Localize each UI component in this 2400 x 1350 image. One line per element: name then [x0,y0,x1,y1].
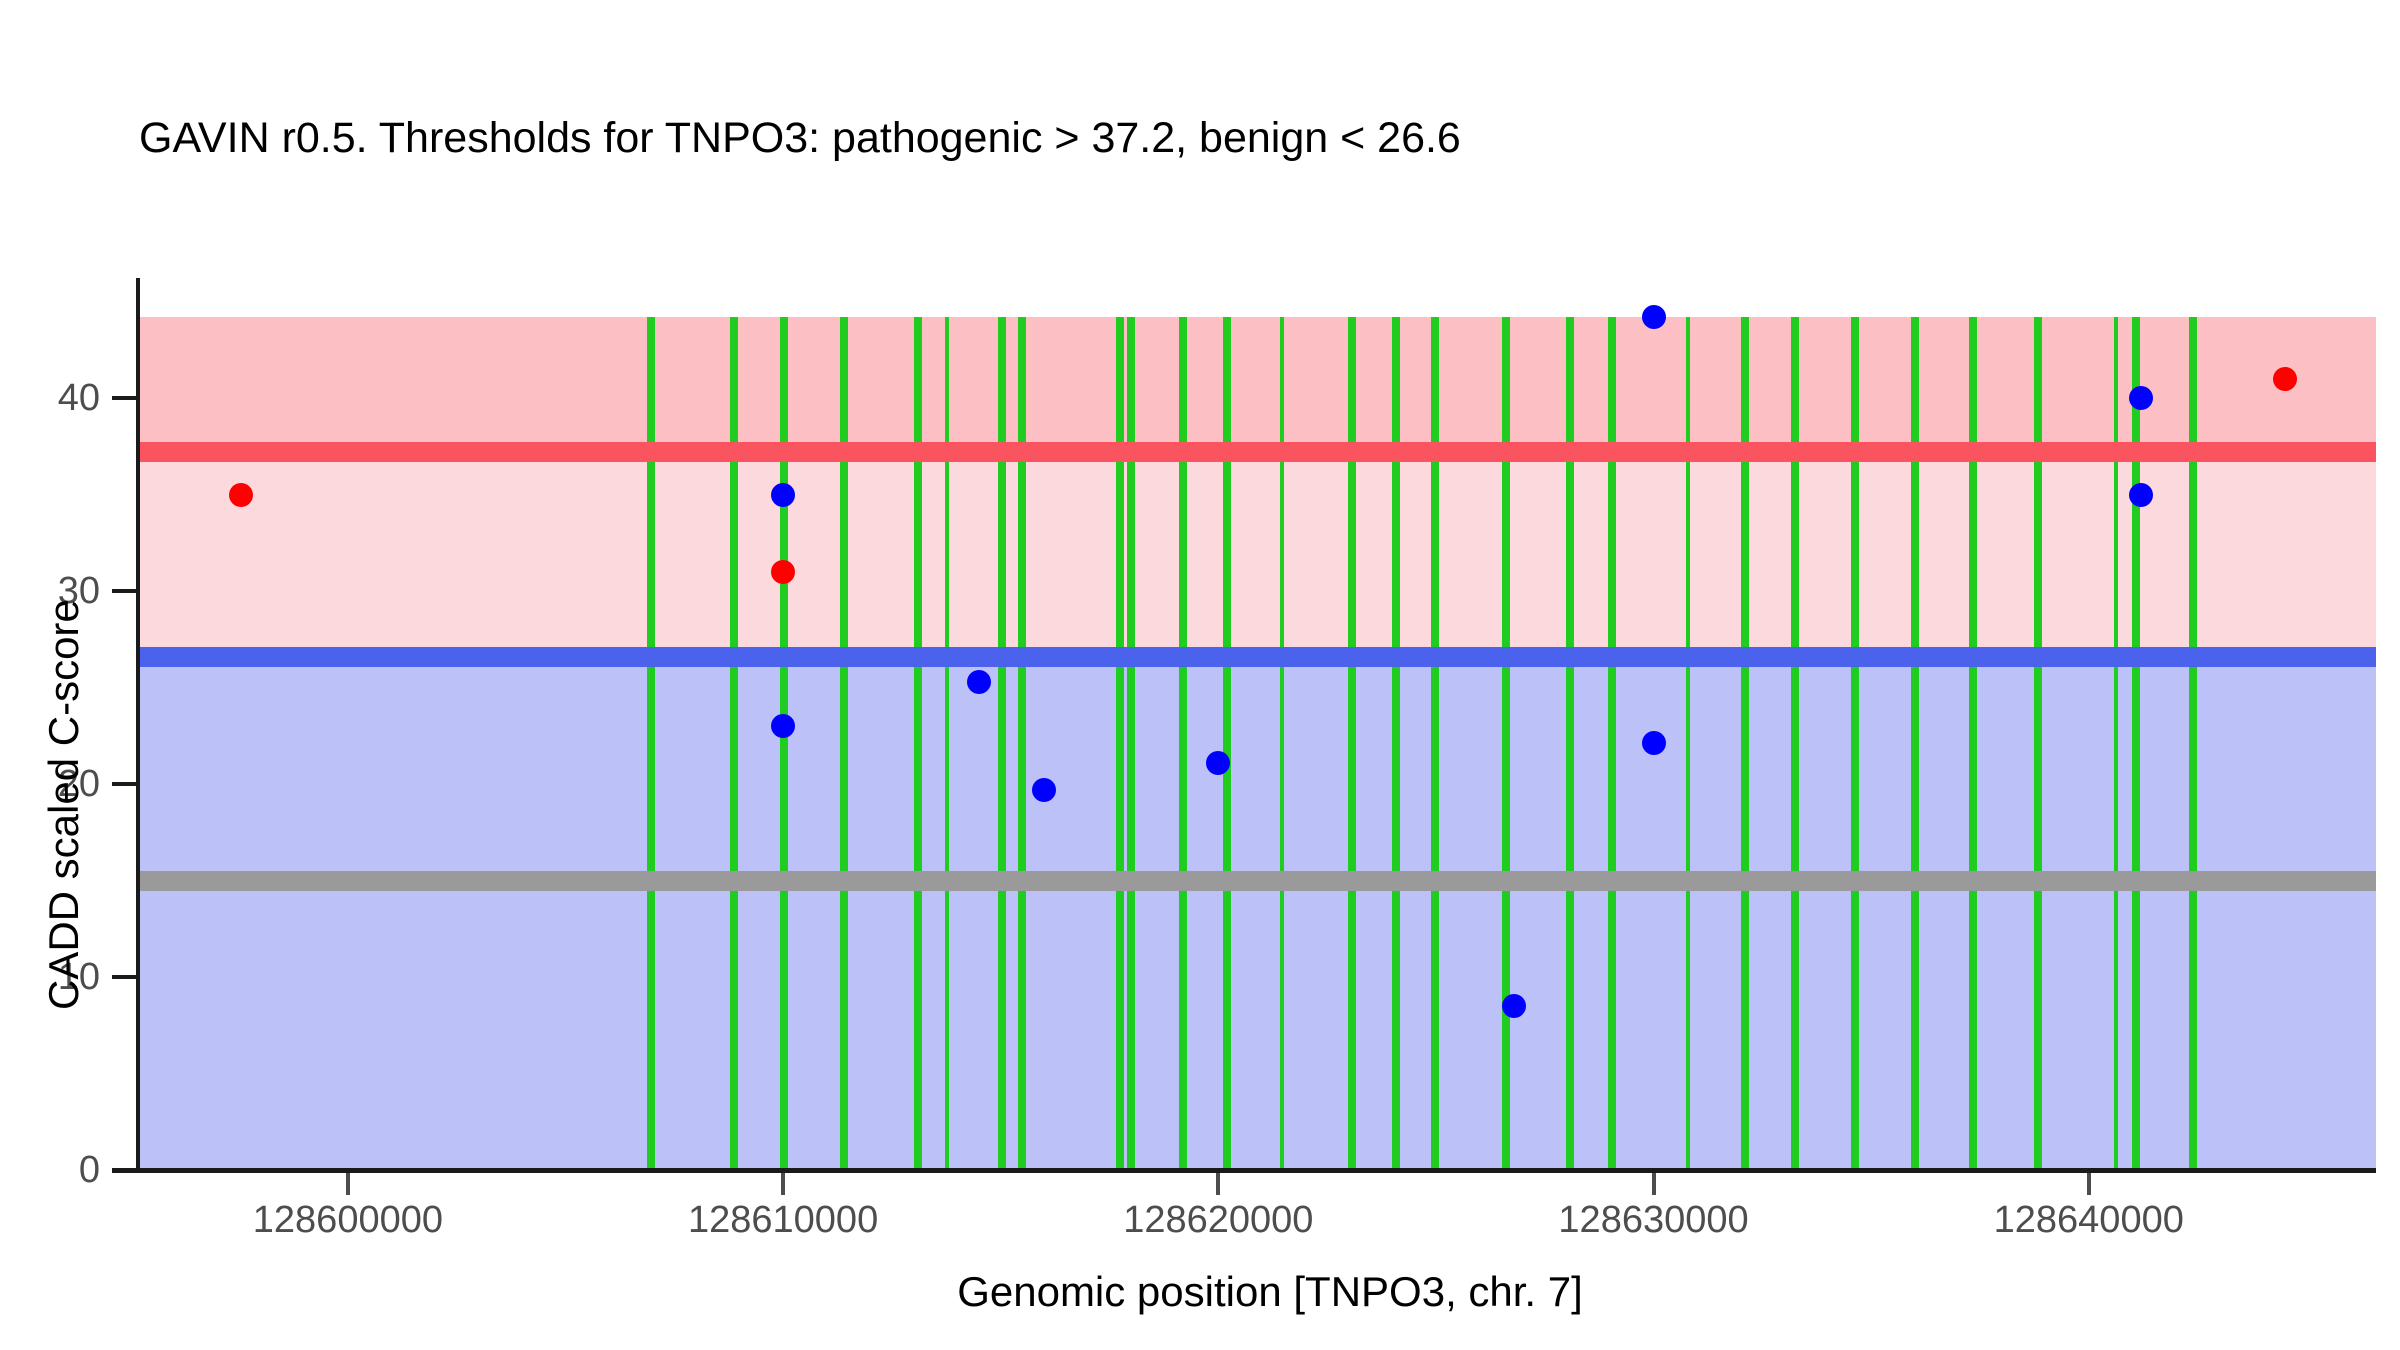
x-tick-label: 128620000 [1123,1200,1313,1240]
x-tick-label: 128630000 [1558,1200,1748,1240]
x-tick [2087,1173,2091,1195]
title-line-1: GAVIN r0.5. Thresholds for TNPO3: pathog… [139,112,2339,165]
x-tick-label: 128610000 [688,1200,878,1240]
y-axis-line [136,278,140,1170]
x-tick [781,1173,785,1195]
data-point [771,483,795,507]
x-tick [1216,1173,1220,1195]
y-tick [112,589,136,593]
data-point [1642,305,1666,329]
data-point [1206,751,1230,775]
chart-root: GAVIN r0.5. Thresholds for TNPO3: pathog… [0,0,2400,1350]
x-tick [346,1173,350,1195]
y-tick [112,782,136,786]
x-axis-line [112,1168,2376,1173]
benign-threshold-line [139,647,2376,667]
data-point [2129,386,2153,410]
y-tick-label: 40 [0,379,100,417]
data-point [2129,483,2153,507]
data-point [2273,367,2297,391]
data-point [229,483,253,507]
y-tick [112,1168,136,1172]
x-axis-label: Genomic position [TNPO3, chr. 7] [0,1268,2400,1316]
data-point [1032,778,1056,802]
data-point [1642,731,1666,755]
fallback-threshold-line [139,871,2376,891]
x-tick-label: 128600000 [253,1200,443,1240]
x-tick [1652,1173,1656,1195]
data-point [967,670,991,694]
y-axis-label: CADD scaled C-score [40,599,88,1010]
pathogenic-threshold-line [139,442,2376,462]
plot-area [139,278,2376,1170]
y-tick [112,396,136,400]
data-point [771,560,795,584]
y-tick-label: 0 [0,1151,100,1189]
y-tick [112,975,136,979]
x-tick-label: 128640000 [1994,1200,2184,1240]
